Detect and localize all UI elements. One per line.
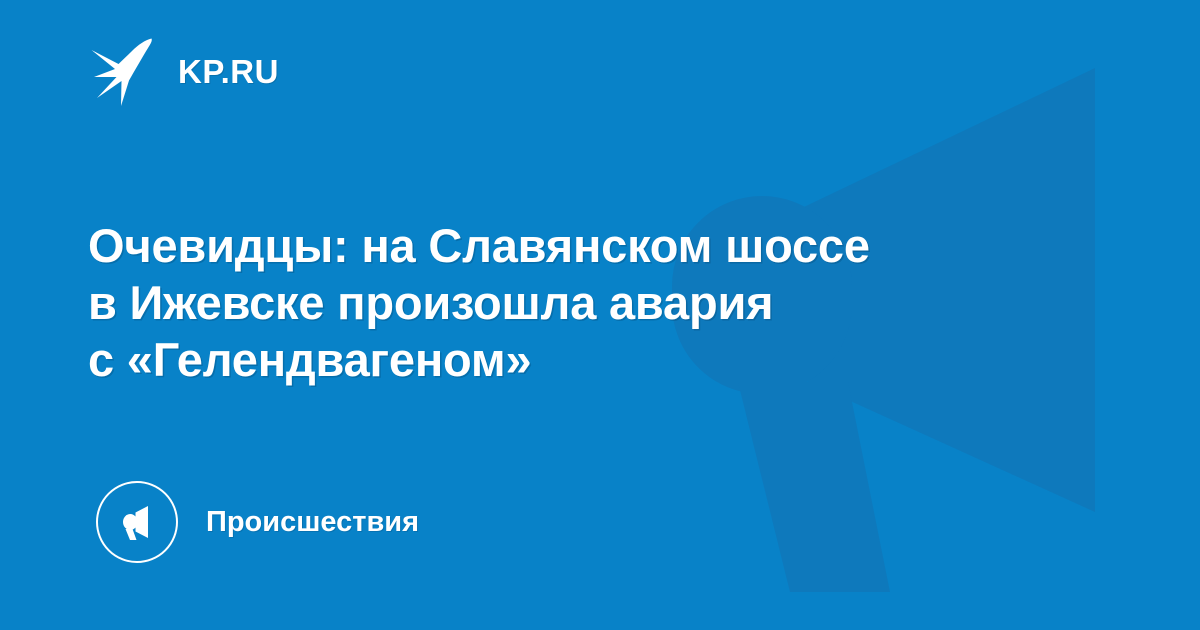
brand-logo[interactable]: KP.RU [88,36,279,106]
headline-line-2: в Ижевске произошла авария [88,274,1048,331]
share-card: KP.RU Очевидцы: на Славянском шоссе в Иж… [0,0,1200,630]
brand-wordmark: KP.RU [178,55,279,88]
swallow-bird-icon [88,36,162,106]
headline-line-3: с «Гелендвагеном» [88,331,1048,388]
headline-line-1: Очевидцы: на Славянском шоссе [88,217,1048,274]
megaphone-icon [115,500,159,544]
category-icon-badge [96,481,178,563]
headline: Очевидцы: на Славянском шоссе в Ижевске … [88,217,1048,388]
category-tag[interactable]: Происшествия [96,480,419,564]
category-label: Происшествия [206,508,419,537]
